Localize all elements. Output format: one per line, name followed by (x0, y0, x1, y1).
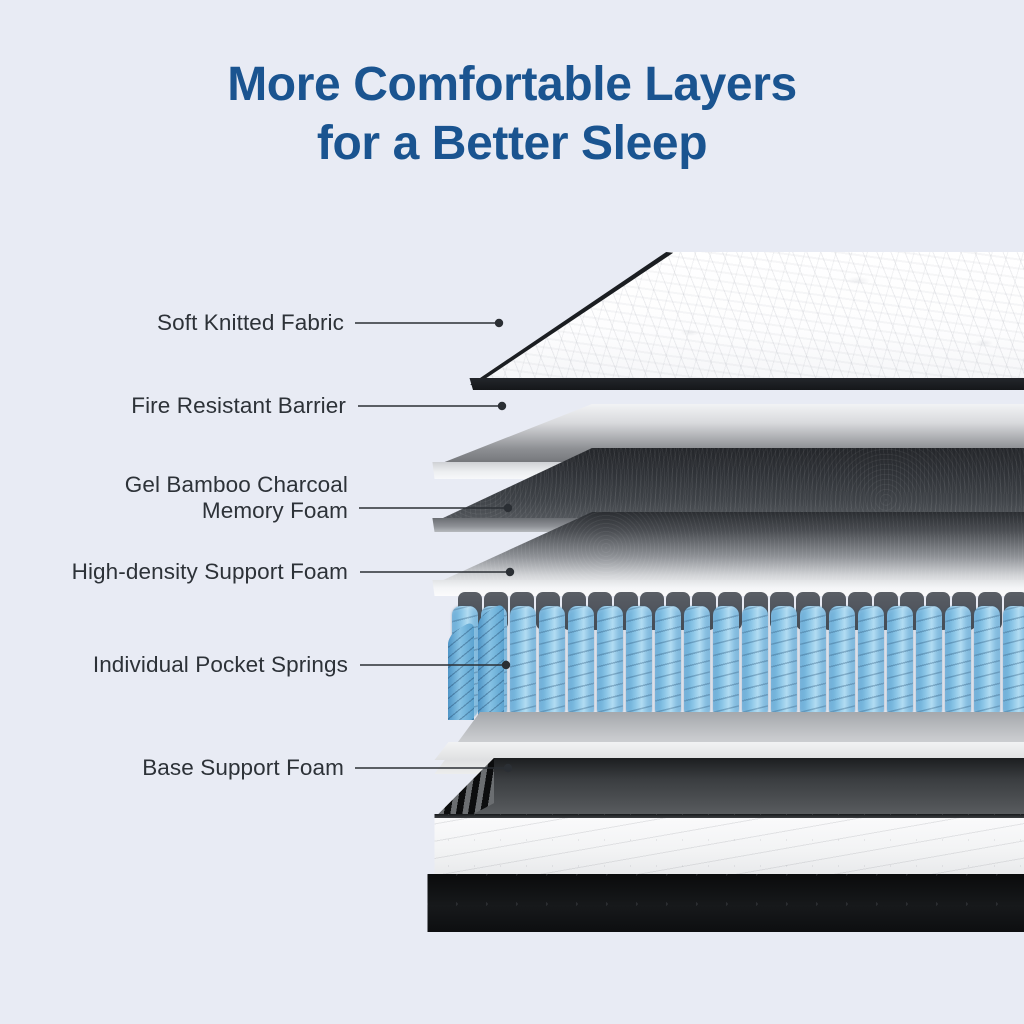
label-fire-resistant-barrier: Fire Resistant Barrier (131, 393, 346, 419)
label-base-support-foam: Base Support Foam (142, 755, 344, 781)
label-high-density-support-foam: High-density Support Foam (72, 559, 348, 585)
label-soft-knitted-fabric: Soft Knitted Fabric (157, 310, 344, 336)
label-individual-pocket-springs: Individual Pocket Springs (93, 652, 348, 678)
label-gel-bamboo-charcoal-memory-foam: Gel Bamboo Charcoal Memory Foam (125, 472, 348, 524)
